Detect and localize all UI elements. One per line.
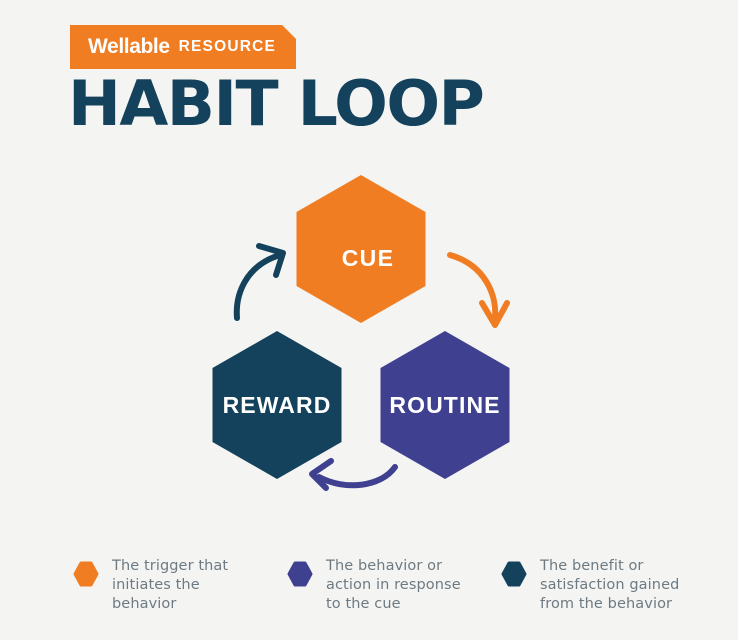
hexagon-routine-label: ROUTINE	[389, 392, 500, 418]
legend-item-text: The benefit or satisfaction gained from …	[540, 557, 679, 614]
badge-category-label: RESOURCE	[179, 39, 276, 55]
brand-wordmark: Wellable	[88, 36, 170, 57]
arrow-reward-to-cue	[237, 246, 283, 318]
badge-body: Wellable RESOURCE	[70, 25, 296, 69]
arrow-cue-to-routine	[450, 255, 507, 325]
hexagon-reward-label: REWARD	[223, 392, 332, 418]
hexagon-routine[interactable]: ROUTINE	[377, 327, 513, 483]
hexagon-marker-icon	[500, 561, 528, 592]
legend-item-reward: The benefit or satisfaction gained from …	[500, 557, 692, 614]
page-title: HABIT LOOP	[68, 73, 483, 135]
legend: The trigger that initiates the behavior …	[72, 557, 692, 614]
legend-item-cue: The trigger that initiates the behavior	[72, 557, 264, 614]
arrow-routine-to-reward	[312, 461, 395, 488]
resource-badge: Wellable RESOURCE	[70, 25, 296, 69]
hexagon-reward[interactable]: REWARD	[209, 327, 345, 483]
legend-item-text: The trigger that initiates the behavior	[112, 557, 228, 614]
hexagon-cue[interactable]: CUE	[293, 171, 429, 327]
hexagon-marker-icon	[72, 561, 100, 592]
hexagon-cue-label: CUE	[342, 245, 394, 271]
legend-item-routine: The behavior or action in response to th…	[286, 557, 478, 614]
habit-loop-diagram: REWARD ROUTINE CUE	[185, 155, 555, 510]
legend-item-text: The behavior or action in response to th…	[326, 557, 461, 614]
hexagon-marker-icon	[286, 561, 314, 592]
